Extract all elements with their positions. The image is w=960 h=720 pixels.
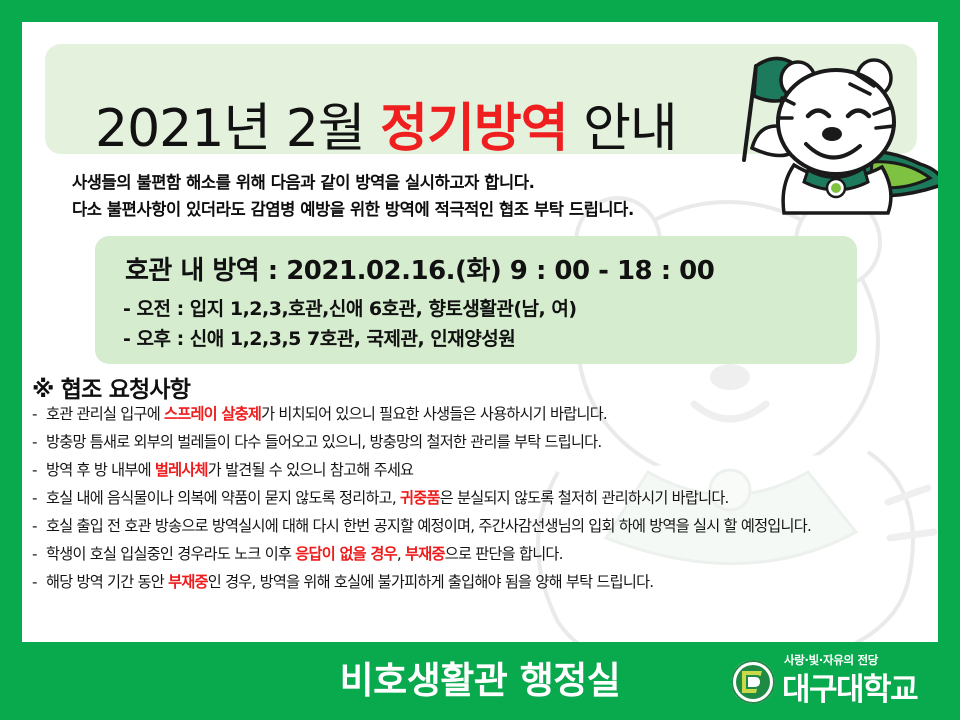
note-item: -호관 관리실 입구에 스프레이 살충제가 비치되어 있으니 필요한 사생들은 … (32, 404, 928, 425)
note-text: , (397, 545, 405, 563)
note-highlight: 응답이 없을 경우 (295, 545, 397, 563)
note-text: 가 비치되어 있으니 필요한 사생들은 사용하시기 바랍니다. (261, 405, 607, 423)
note-bullet-dash: - (32, 544, 37, 565)
note-item: -해당 방역 기간 동안 부재중인 경우, 방역을 위해 호실에 불가피하게 출… (32, 572, 928, 593)
note-highlight: 스프레이 살충제 (164, 405, 261, 423)
footer-bar: 비호생활관 행정실 사랑·빛·자유의 전당 대구대학교 (0, 642, 960, 720)
title-suffix: 안내 (568, 99, 677, 159)
note-text: 호관 관리실 입구에 (46, 405, 164, 423)
note-text: 으로 판단을 합니다. (445, 545, 563, 563)
intro-line-2: 다소 불편사항이 있더라도 감염병 예방을 위한 방역에 적극적인 협조 부탁 … (72, 197, 772, 224)
note-text: 방충망 틈새로 외부의 벌레들이 다수 들어오고 있으니, 방충망의 철저한 관… (46, 433, 601, 451)
notes-heading: ※ 협조 요청사항 (32, 370, 190, 404)
intro-paragraph: 사생들의 불편함 해소를 위해 다음과 같이 방역을 실시하고자 합니다. 다소… (72, 170, 772, 223)
note-bullet-dash: - (32, 488, 37, 509)
note-highlight: 귀중품 (400, 489, 440, 507)
note-bullet-dash: - (32, 404, 37, 425)
note-text: 학생이 호실 입실중인 경우라도 노크 이후 (46, 545, 295, 563)
note-item: -호실 출입 전 호관 방송으로 방역실시에 대해 다시 한번 공지할 예정이며… (32, 516, 928, 537)
note-text: 해당 방역 기간 동안 (46, 573, 168, 591)
schedule-morning: - 오전 : 입지 1,2,3,호관,신애 6호관, 향토생활관(남, 여) (123, 294, 577, 321)
note-bullet-dash: - (32, 432, 37, 453)
title-highlight: 정기방역 (380, 99, 567, 159)
note-bullet-dash: - (32, 460, 37, 481)
notes-list: -호관 관리실 입구에 스프레이 살충제가 비치되어 있으니 필요한 사생들은 … (32, 404, 928, 600)
note-bullet-dash: - (32, 516, 37, 537)
note-item: -방충망 틈새로 외부의 벌레들이 다수 들어오고 있으니, 방충망의 철저한 … (32, 432, 928, 453)
title-prefix: 2021년 2월 (95, 99, 380, 159)
note-highlight: 벌레사체 (155, 461, 208, 479)
note-bullet-dash: - (32, 572, 37, 593)
university-logo: 사랑·빛·자유의 전당 대구대학교 (722, 650, 942, 712)
poster-root: 2021년 2월 정기방역 안내 (0, 0, 960, 720)
page-title: 2021년 2월 정기방역 안내 (95, 86, 677, 161)
schedule-box: 호관 내 방역 : 2021.02.16.(화) 9 : 00 - 18 : 0… (95, 236, 857, 364)
logo-university-name: 대구대학교 (782, 664, 917, 709)
note-text: 방역 후 방 내부에 (46, 461, 155, 479)
poster-sheet: 2021년 2월 정기방역 안내 (22, 22, 938, 642)
note-text: 호실 출입 전 호관 방송으로 방역실시에 대해 다시 한번 공지할 예정이며,… (46, 517, 811, 535)
note-item: -방역 후 방 내부에 벌레사체가 발견될 수 있으니 참고해 주세요 (32, 460, 928, 481)
schedule-afternoon: - 오후 : 신애 1,2,3,5 7호관, 국제관, 인재양성원 (123, 324, 515, 351)
daegu-university-seal-icon (730, 659, 776, 705)
note-highlight: 부재중 (168, 573, 208, 591)
schedule-heading: 호관 내 방역 : 2021.02.16.(화) 9 : 00 - 18 : 0… (125, 250, 714, 287)
note-text: 호실 내에 음식물이나 의복에 약품이 묻지 않도록 정리하고, (46, 489, 400, 507)
note-item: -호실 내에 음식물이나 의복에 약품이 묻지 않도록 정리하고, 귀중품은 분… (32, 488, 928, 509)
note-text: 인 경우, 방역을 위해 호실에 불가피하게 출입해야 됨을 양해 부탁 드립니… (208, 573, 654, 591)
note-highlight: 부재중 (405, 545, 445, 563)
note-text: 가 발견될 수 있으니 참고해 주세요 (208, 461, 414, 479)
note-text: 은 분실되지 않도록 철저히 관리하시기 바랍니다. (440, 489, 729, 507)
note-item: -학생이 호실 입실중인 경우라도 노크 이후 응답이 없을 경우, 부재중으로… (32, 544, 928, 565)
intro-line-1: 사생들의 불편함 해소를 위해 다음과 같이 방역을 실시하고자 합니다. (72, 170, 772, 197)
